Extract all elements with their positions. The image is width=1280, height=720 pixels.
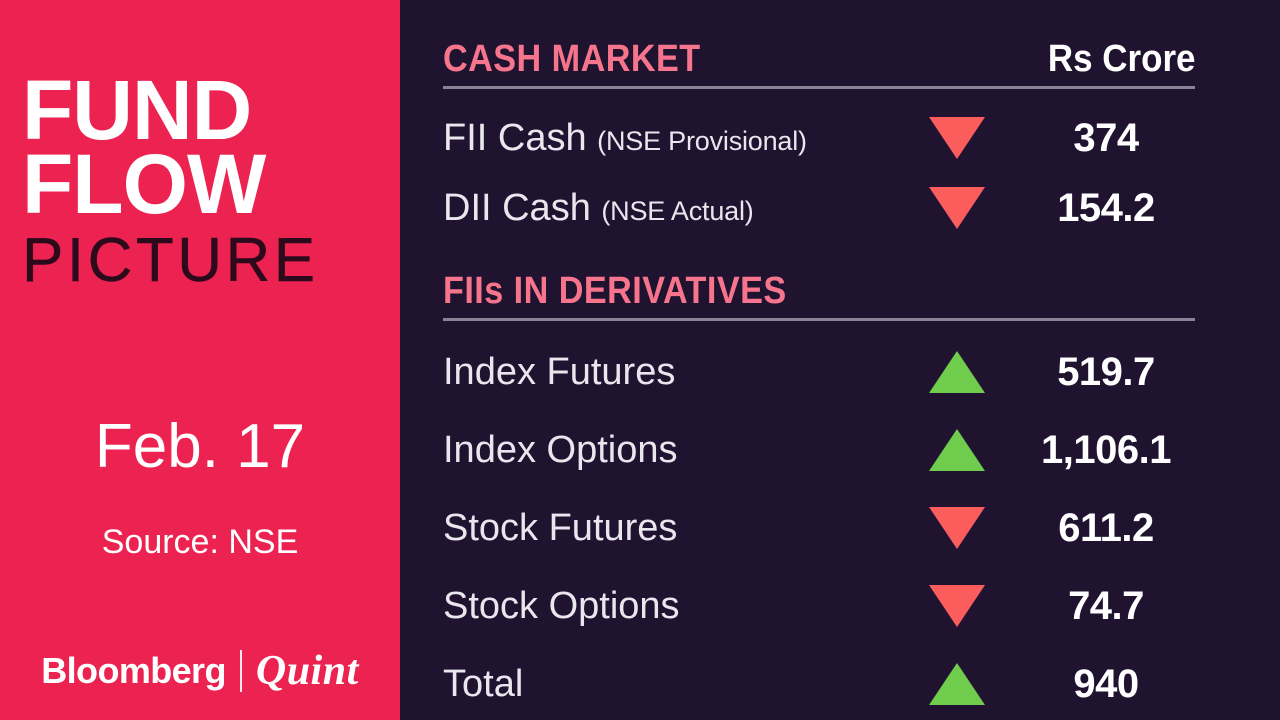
section-fiis-in-derivatives: FIIs IN DERIVATIVES [443,272,1195,321]
row-label-index-futures: Index Futures [443,353,897,391]
row-value-index-options: 1,106.1 [1017,430,1195,470]
row-label-qualifier: (NSE Actual) [601,196,753,226]
table-row: Stock Futures 611.2 [443,489,1195,567]
table-row: Index Futures 519.7 [443,333,1195,411]
triangle-down-icon [897,507,1017,549]
row-value-index-futures: 519.7 [1017,352,1195,392]
section-header-derivatives: FIIs IN DERIVATIVES [443,272,1195,310]
row-value-stock-options: 74.7 [1017,586,1195,626]
row-label-index-options: Index Options [443,431,897,469]
row-value-total: 940 [1017,664,1195,704]
row-label-qualifier: (NSE Provisional) [597,126,807,156]
triangle-up-icon [897,351,1017,393]
source-label: Source: NSE [0,525,400,559]
row-label-fii-cash: FII Cash (NSE Provisional) [443,119,897,157]
triangle-down-icon [897,585,1017,627]
table-row: Total 940 [443,645,1195,720]
triangle-up-icon [897,663,1017,705]
triangle-down-glyph [929,187,985,229]
row-label-stock-futures: Stock Futures [443,509,897,547]
table-row: Index Options 1,106.1 [443,411,1195,489]
table-row: DII Cash (NSE Actual) 154.2 [443,173,1195,243]
row-value-stock-futures: 611.2 [1017,508,1195,548]
triangle-down-icon [897,187,1017,229]
triangle-up-glyph [929,663,985,705]
triangle-down-glyph [929,507,985,549]
row-label-stock-options: Stock Options [443,587,897,625]
triangle-up-icon [897,429,1017,471]
triangle-down-icon [897,117,1017,159]
left-brand-panel: FUND FLOW PICTURE Feb. 17 Source: NSE Bl… [0,0,400,720]
section-title-derivatives: FIIs IN DERIVATIVES [443,272,787,310]
row-label-text: DII Cash [443,187,591,229]
row-value-fii-cash: 374 [1017,118,1195,158]
logo-bloomberg-text: Bloomberg [41,653,226,689]
brand-line-picture: PICTURE [22,230,378,292]
brand-line-flow: FLOW [22,148,378,222]
section-divider-cash-market [443,86,1195,89]
bloomberg-quint-logo: Bloomberg Quint [0,650,400,692]
section-header-cash-market: CASH MARKET Rs Crore [443,40,1195,78]
fund-flow-infographic: FUND FLOW PICTURE Feb. 17 Source: NSE Bl… [0,0,1280,720]
triangle-down-glyph [929,585,985,627]
section-divider-derivatives [443,318,1195,321]
logo-quint-text: Quint [256,650,359,692]
cash-market-rows: FII Cash (NSE Provisional) 374 DII Cash … [443,103,1195,243]
derivatives-rows: Index Futures 519.7 Index Options 1,106.… [443,333,1195,720]
section-title-cash-market: CASH MARKET [443,40,701,78]
unit-label-rs-crore: Rs Crore [1047,40,1195,78]
fund-flow-table: CASH MARKET Rs Crore FII Cash (NSE Provi… [443,0,1195,720]
triangle-up-glyph [929,351,985,393]
table-row: Stock Options 74.7 [443,567,1195,645]
row-value-dii-cash: 154.2 [1017,188,1195,228]
date-label: Feb. 17 [0,416,400,478]
row-label-dii-cash: DII Cash (NSE Actual) [443,189,897,227]
brand-block: FUND FLOW PICTURE [22,74,378,292]
row-label-text: FII Cash [443,117,587,159]
logo-divider [240,650,242,692]
row-label-total: Total [443,665,897,703]
triangle-up-glyph [929,429,985,471]
triangle-down-glyph [929,117,985,159]
section-cash-market: CASH MARKET Rs Crore [443,40,1195,89]
table-row: FII Cash (NSE Provisional) 374 [443,103,1195,173]
right-data-panel: CASH MARKET Rs Crore FII Cash (NSE Provi… [400,0,1280,720]
